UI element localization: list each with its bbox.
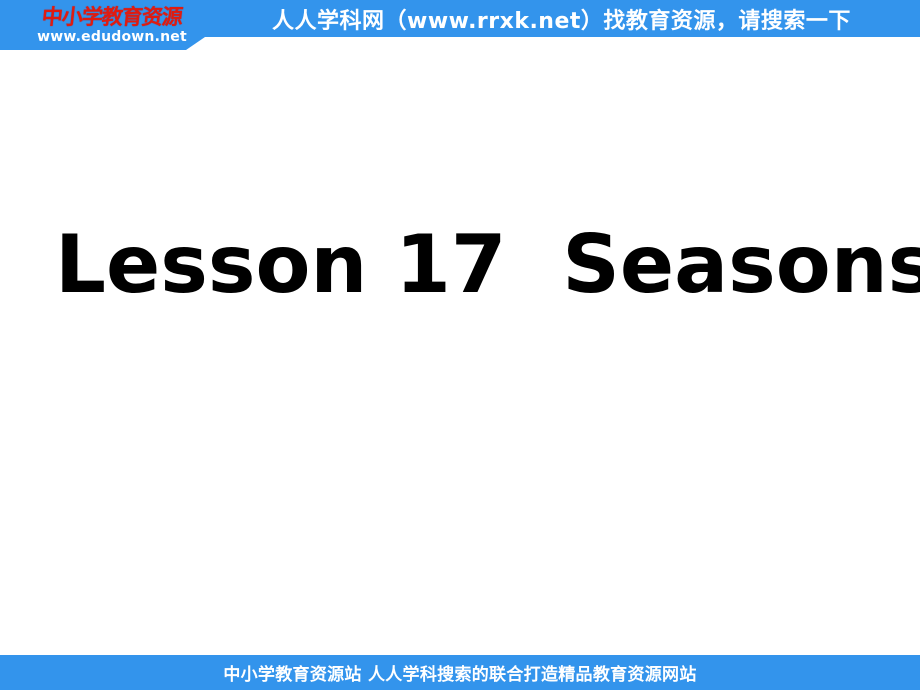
edudown-logo[interactable]: 中小学教育资源 www.edudown.net: [26, 1, 198, 49]
header-banner-text: 人人学科网（www.rrxk.net）找教育资源，请搜索一下: [272, 3, 851, 34]
header-banner-shape: [0, 0, 920, 52]
title-area: Lesson 17 Seasons: [0, 200, 920, 330]
footer-text: 中小学教育资源站 人人学科搜索的联合打造精品教育资源网站: [0, 655, 920, 690]
footer-bar: 中小学教育资源站 人人学科搜索的联合打造精品教育资源网站: [0, 655, 920, 690]
presentation-slide: 中小学教育资源 www.edudown.net 人人学科网（www.rrxk.n…: [0, 0, 920, 690]
edudown-logo-url: www.edudown.net: [26, 29, 198, 45]
slide-title: Lesson 17 Seasons: [55, 200, 920, 330]
edudown-logo-characters: 中小学教育资源: [24, 1, 199, 30]
header-content: 中小学教育资源 www.edudown.net 人人学科网（www.rrxk.n…: [0, 0, 920, 52]
header-banner: 中小学教育资源 www.edudown.net 人人学科网（www.rrxk.n…: [0, 0, 920, 52]
